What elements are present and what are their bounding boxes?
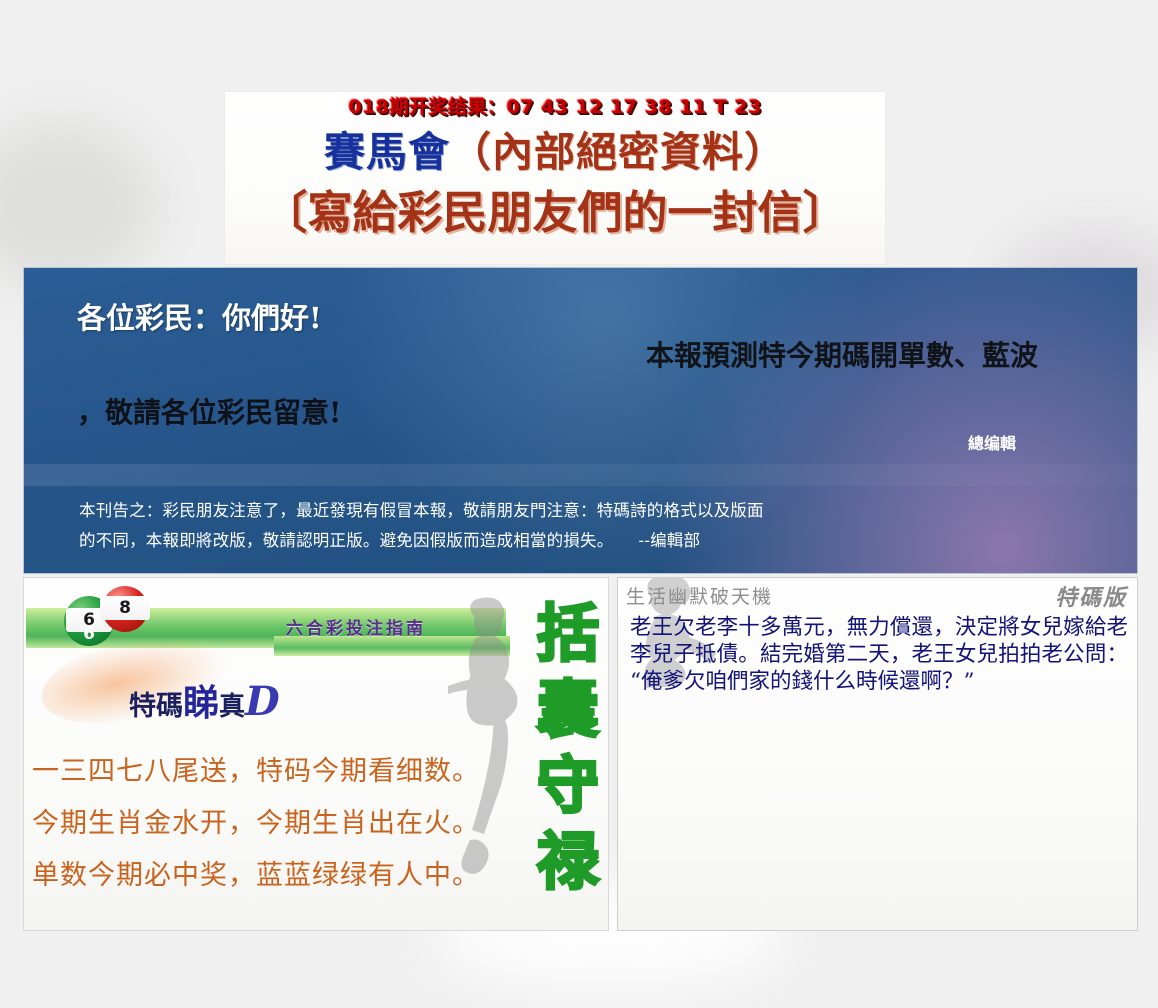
masthead-title-line-2: 〔寫給彩民朋友們的一封信〕 [225, 176, 885, 241]
logo-band-label: 六合彩投注指南 [286, 614, 426, 639]
letter-signature: 總编輯 [968, 430, 1016, 454]
lottery-ball-red-icon: 8 [102, 586, 148, 632]
masthead-title-line-1: 賽馬會（內部絕密資料） [225, 118, 885, 178]
edition-tag: 特碼版 [1055, 580, 1127, 612]
letter-note-text: ，敬請各位彩民留意! [77, 391, 341, 431]
letter-panel: 各位彩民：你們好! 本報預測特今期碼開單數、藍波 ，敬請各位彩民留意! 總编輯 … [23, 267, 1138, 574]
poem-line: 一三四七八尾送，特码今期看细数。 [32, 746, 552, 798]
ball-number: 6 [64, 622, 114, 646]
slogan-part-1: 特碼 [129, 691, 183, 722]
vertical-title-char: 囊 [532, 672, 604, 748]
masthead-card: 018期开奖结果：07 43 12 17 38 11 T 23 賽馬會（內部絕密… [225, 92, 885, 264]
logo-band-step [274, 636, 510, 656]
bottom-row: 六合彩投注指南 6 6 8 特碼睇真D [23, 577, 1136, 929]
right-panel: 生活幽默破天機 特碼版 老王欠老李十多萬元，無力償還，決定將女兒嫁給老李兒子抵債… [617, 577, 1138, 931]
poem-block: 一三四七八尾送，特码今期看细数。 今期生肖金水开，今期生肖出在火。 单数今期必中… [32, 746, 552, 902]
left-panel: 六合彩投注指南 6 6 8 特碼睇真D [23, 577, 609, 931]
slogan-part-3: 真 [219, 692, 245, 722]
letter-forecast-text: 本報預測特今期碼開單數、藍波 [646, 334, 1038, 374]
humour-section-heading: 生活幽默破天機 [626, 582, 773, 609]
vertical-title-char: 括 [532, 596, 604, 672]
notice-line: 的不同，本報即將改版，敬請認明正版。避免因假版而造成相當的損失。 --编輯部 [79, 526, 1138, 556]
slogan-part-4: D [245, 678, 280, 725]
background-blotch-left [0, 120, 160, 290]
slogan-part-2: 睇 [183, 682, 219, 724]
masthead-org-name: 賽馬會 [324, 128, 450, 176]
panel-light-band [24, 464, 1137, 486]
brand-slogan: 特碼睇真D [129, 674, 280, 726]
poem-line: 今期生肖金水开，今期生肖出在火。 [32, 798, 552, 850]
humour-body-text: 老王欠老李十多萬元，無力償還，決定將女兒嫁給老李兒子抵債。結完婚第二天，老王女兒… [630, 614, 1128, 695]
notice-block: 本刊告之：彩民朋友注意了，最近發現有假冒本報，敬請朋友門注意：特碼詩的格式以及版… [79, 496, 1138, 558]
masthead-subtitle: （內部絕密資料） [450, 128, 786, 176]
letter-greeting: 各位彩民：你們好! [77, 295, 322, 337]
poem-line: 单数今期必中奖，蓝蓝绿绿有人中。 [32, 850, 552, 902]
notice-line: 本刊告之：彩民朋友注意了，最近發現有假冒本報，敬請朋友門注意：特碼詩的格式以及版… [79, 496, 1138, 526]
ball-number: 8 [102, 596, 148, 620]
